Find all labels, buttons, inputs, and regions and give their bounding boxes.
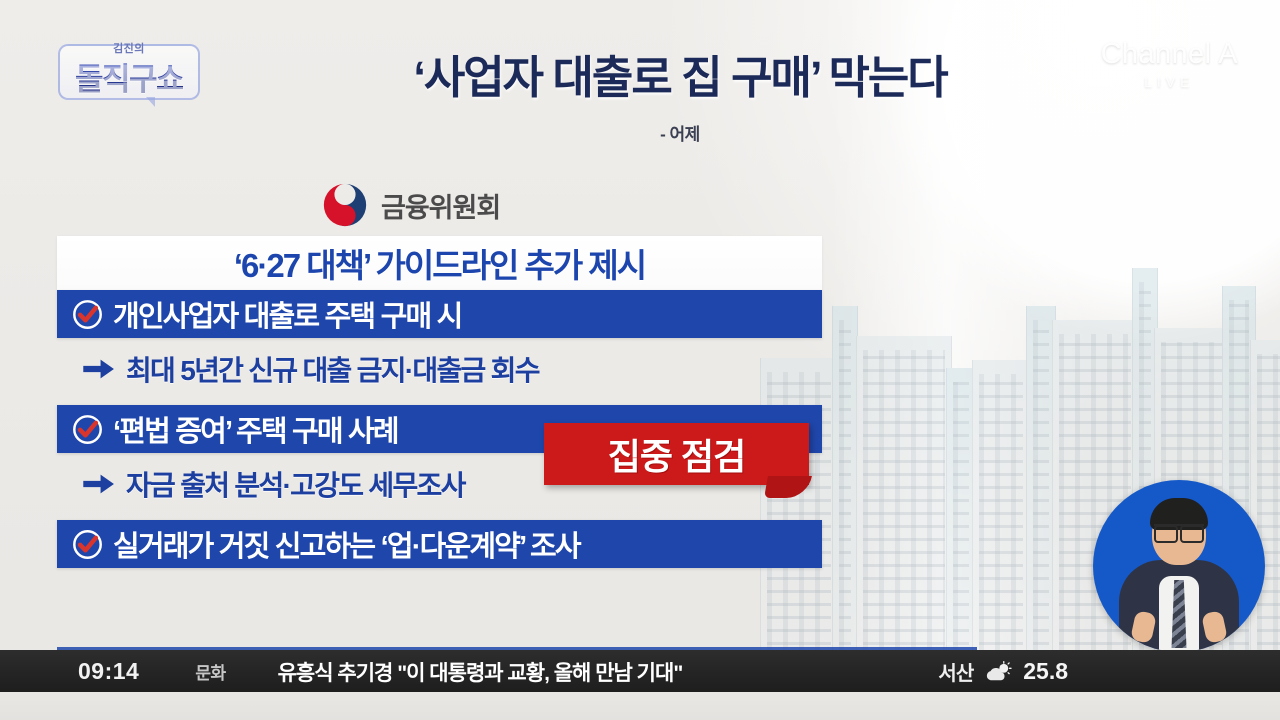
panel-row-text: 실거래가 거짓 신고하는 ‘업·다운계약’ 조사 bbox=[113, 523, 580, 565]
anchor-video-inset bbox=[1093, 480, 1265, 652]
emphasis-stamp-text: 집중 점검 bbox=[608, 428, 745, 480]
partly-cloudy-icon bbox=[984, 661, 1012, 683]
korea-government-emblem-icon bbox=[322, 182, 368, 228]
panel-header-text: ‘6·27 대책’ 가이드라인 추가 제시 bbox=[234, 239, 645, 287]
ticker-category: 문화 bbox=[195, 659, 225, 684]
source-organization-row: 금융위원회 bbox=[322, 182, 500, 228]
panel-row-check-3: 실거래가 거짓 신고하는 ‘업·다운계약’ 조사 bbox=[57, 520, 822, 568]
channel-brand-label: Channel A bbox=[1101, 38, 1238, 71]
panel-row-check-1: 개인사업자 대출로 주택 구매 시 bbox=[57, 290, 822, 338]
arrow-right-icon bbox=[83, 358, 115, 380]
panel-row-text: ‘편법 증여’ 주택 구매 사례 bbox=[113, 408, 398, 450]
show-logo-title: 돌직구쇼 bbox=[75, 54, 183, 99]
panel-row-text: 최대 5년간 신규 대출 금지·대출금 회수 bbox=[126, 349, 539, 389]
bottom-letterbox-strip bbox=[0, 692, 1280, 720]
panel-header: ‘6·27 대책’ 가이드라인 추가 제시 bbox=[57, 236, 822, 290]
news-ticker-bar: 09:14 문화 유흥식 추기경 "이 대통령과 교황, 올해 만남 기대" 서… bbox=[0, 650, 1280, 692]
weather-temperature: 25.8 bbox=[1023, 658, 1068, 685]
check-circle-icon bbox=[71, 298, 104, 331]
emphasis-stamp-badge: 집중 점검 bbox=[544, 423, 809, 485]
arrow-right-icon bbox=[83, 473, 115, 495]
weather-widget: 서산 25.8 bbox=[938, 657, 1068, 686]
broadcast-frame: 김진의 돌직구쇼 Channel A LIVE ‘사업자 대출로 집 구매’ 막… bbox=[0, 0, 1280, 720]
panel-bottom-rule bbox=[57, 647, 977, 650]
info-panel: ‘6·27 대책’ 가이드라인 추가 제시 개인사업자 대출로 주택 구매 시 … bbox=[57, 236, 822, 568]
source-organization-name: 금융위원회 bbox=[381, 186, 500, 225]
check-circle-icon bbox=[71, 413, 104, 446]
show-logo: 김진의 돌직구쇼 bbox=[54, 30, 204, 108]
panel-row-arrow-1: 최대 5년간 신규 대출 금지·대출금 회수 bbox=[57, 345, 822, 393]
ticker-headline: 유흥식 추기경 "이 대통령과 교황, 올해 만남 기대" bbox=[278, 657, 683, 687]
headline-attribution: - 어제 bbox=[320, 120, 1040, 145]
live-badge: LIVE bbox=[1101, 74, 1238, 90]
panel-row-text: 개인사업자 대출로 주택 구매 시 bbox=[113, 293, 461, 335]
headline-title: ‘사업자 대출로 집 구매’ 막는다 bbox=[320, 41, 1040, 106]
weather-city: 서산 bbox=[938, 657, 973, 686]
check-circle-icon bbox=[71, 528, 104, 561]
ticker-clock: 09:14 bbox=[78, 658, 139, 685]
panel-row-text: 자금 출처 분석·고강도 세무조사 bbox=[126, 464, 465, 504]
channel-watermark: Channel A LIVE bbox=[1101, 38, 1238, 90]
